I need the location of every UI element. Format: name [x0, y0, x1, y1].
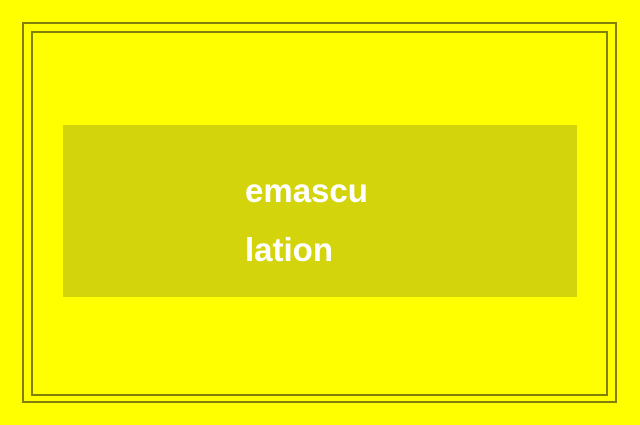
word-line-2: lation — [245, 220, 575, 279]
content-panel: emascu lation — [63, 125, 577, 297]
word-line-1: emascu — [245, 161, 575, 220]
page-canvas: emascu lation — [0, 0, 640, 425]
word-text-block: emascu lation — [245, 161, 575, 279]
